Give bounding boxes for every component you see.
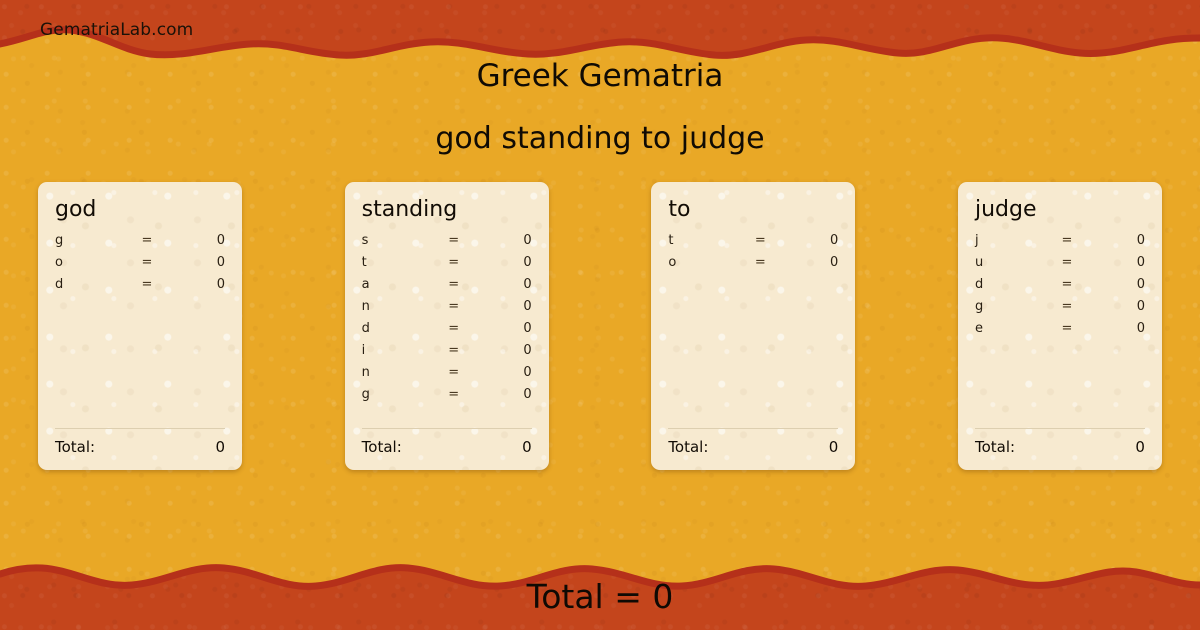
letter-value-rows: g = 0 o = 0 d = 0 [55, 233, 225, 428]
equals-sign: = [440, 233, 468, 248]
equals-sign: = [1053, 255, 1081, 270]
letter-row: g = 0 [362, 387, 532, 409]
letter-char: t [668, 233, 746, 248]
letter-char: g [55, 233, 133, 248]
letter-char: o [668, 255, 746, 270]
letter-value: 0 [468, 233, 532, 248]
letter-row: u = 0 [975, 255, 1145, 277]
letter-value: 0 [774, 233, 838, 248]
card-total-value: 0 [522, 438, 532, 456]
letter-char: s [362, 233, 440, 248]
word-card-list: god g = 0 o = 0 d = 0 [38, 182, 1162, 470]
equals-sign: = [440, 343, 468, 358]
letter-value-rows: j = 0 u = 0 d = 0 g = 0 [975, 233, 1145, 428]
letter-char: t [362, 255, 440, 270]
card-total-divider [975, 428, 1145, 429]
letter-value: 0 [161, 233, 225, 248]
card-total-label: Total: [362, 438, 522, 456]
letter-char: d [975, 277, 1053, 292]
letter-value: 0 [1081, 321, 1145, 336]
letter-value: 0 [468, 365, 532, 380]
letter-value: 0 [1081, 233, 1145, 248]
equals-sign: = [746, 233, 774, 248]
letter-value: 0 [468, 321, 532, 336]
equals-sign: = [133, 233, 161, 248]
card-total-row: Total: 0 [55, 438, 225, 456]
card-total-value: 0 [829, 438, 839, 456]
letter-row: e = 0 [975, 321, 1145, 343]
letter-char: g [362, 387, 440, 402]
page-subtitle: god standing to judge [0, 121, 1200, 156]
letter-row: d = 0 [55, 277, 225, 299]
equals-sign: = [1053, 233, 1081, 248]
letter-char: i [362, 343, 440, 358]
letter-value-rows: s = 0 t = 0 a = 0 n = 0 [362, 233, 532, 428]
card-total-row: Total: 0 [362, 438, 532, 456]
letter-value: 0 [161, 277, 225, 292]
equals-sign: = [133, 255, 161, 270]
gematria-card-image: GematriaLab.com Greek Gematria god stand… [0, 0, 1200, 630]
letter-row: g = 0 [55, 233, 225, 255]
letter-char: j [975, 233, 1053, 248]
letter-value-rows: t = 0 o = 0 [668, 233, 838, 428]
letter-row: a = 0 [362, 277, 532, 299]
letter-char: n [362, 365, 440, 380]
word-card: judge j = 0 u = 0 d = 0 g [958, 182, 1162, 470]
letter-value: 0 [1081, 255, 1145, 270]
letter-value: 0 [468, 277, 532, 292]
card-word-title: god [55, 198, 225, 221]
letter-value: 0 [468, 299, 532, 314]
card-total-value: 0 [1135, 438, 1145, 456]
card-total-divider [55, 428, 225, 429]
letter-char: g [975, 299, 1053, 314]
letter-value: 0 [468, 343, 532, 358]
word-card: god g = 0 o = 0 d = 0 [38, 182, 242, 470]
letter-char: e [975, 321, 1053, 336]
word-card: standing s = 0 t = 0 a = 0 n [345, 182, 549, 470]
letter-value: 0 [468, 387, 532, 402]
equals-sign: = [440, 387, 468, 402]
card-total-row: Total: 0 [975, 438, 1145, 456]
equals-sign: = [746, 255, 774, 270]
letter-char: d [362, 321, 440, 336]
card-total-value: 0 [215, 438, 225, 456]
letter-value: 0 [161, 255, 225, 270]
letter-row: n = 0 [362, 365, 532, 387]
letter-row: d = 0 [975, 277, 1145, 299]
letter-row: o = 0 [668, 255, 838, 277]
equals-sign: = [440, 321, 468, 336]
card-total-row: Total: 0 [668, 438, 838, 456]
equals-sign: = [440, 277, 468, 292]
card-word-title: standing [362, 198, 532, 221]
equals-sign: = [133, 277, 161, 292]
letter-row: s = 0 [362, 233, 532, 255]
equals-sign: = [1053, 321, 1081, 336]
letter-row: j = 0 [975, 233, 1145, 255]
word-card: to t = 0 o = 0 Total: 0 [651, 182, 855, 470]
letter-row: n = 0 [362, 299, 532, 321]
letter-char: u [975, 255, 1053, 270]
equals-sign: = [1053, 277, 1081, 292]
card-total-label: Total: [55, 438, 215, 456]
letter-value: 0 [468, 255, 532, 270]
card-total-divider [362, 428, 532, 429]
letter-row: t = 0 [668, 233, 838, 255]
letter-row: o = 0 [55, 255, 225, 277]
letter-value: 0 [1081, 299, 1145, 314]
letter-row: d = 0 [362, 321, 532, 343]
letter-char: a [362, 277, 440, 292]
card-word-title: judge [975, 198, 1145, 221]
page-title: Greek Gematria [0, 58, 1200, 94]
letter-row: t = 0 [362, 255, 532, 277]
letter-value: 0 [1081, 277, 1145, 292]
card-total-divider [668, 428, 838, 429]
card-total-label: Total: [975, 438, 1135, 456]
watermark-label: GematriaLab.com [40, 20, 193, 40]
letter-row: i = 0 [362, 343, 532, 365]
card-word-title: to [668, 198, 838, 221]
letter-char: n [362, 299, 440, 314]
equals-sign: = [440, 365, 468, 380]
card-total-label: Total: [668, 438, 828, 456]
equals-sign: = [440, 299, 468, 314]
grand-total-label: Total = 0 [0, 577, 1200, 616]
equals-sign: = [1053, 299, 1081, 314]
equals-sign: = [440, 255, 468, 270]
letter-row: g = 0 [975, 299, 1145, 321]
letter-char: o [55, 255, 133, 270]
letter-char: d [55, 277, 133, 292]
letter-value: 0 [774, 255, 838, 270]
